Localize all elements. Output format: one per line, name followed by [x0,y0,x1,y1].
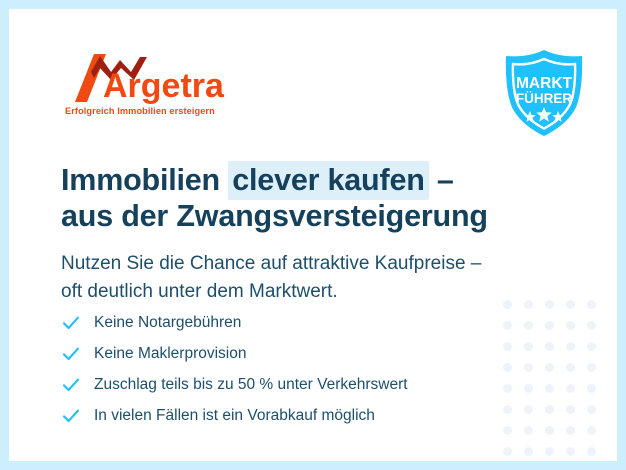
decorative-dot [524,300,533,309]
decorative-dot [566,384,575,393]
marktfuehrer-badge: MARKT FÜHRER [498,47,590,139]
decorative-dot [587,384,596,393]
decorative-dot [503,342,512,351]
logo-tagline: Erfolgreich Immobilien ersteigern [65,106,215,116]
subheadline-line-1: Nutzen Sie die Chance auf attraktive Kau… [61,250,481,278]
decorative-dot [545,342,554,351]
banner-canvas: Argetra Erfolgreich Immobilien ersteiger… [9,9,617,461]
decorative-dot [503,426,512,435]
decorative-dot [545,447,554,456]
decorative-dot [566,300,575,309]
headline-highlight: clever kaufen [228,161,428,200]
decorative-dot [524,321,533,330]
list-item-label: In vielen Fällen ist ein Vorabkauf mögli… [94,406,375,426]
decorative-dot [524,447,533,456]
headline-line-1: Immobilien clever kaufen – [61,162,488,198]
promo-banner: Argetra Erfolgreich Immobilien ersteiger… [0,0,626,470]
decorative-dot [566,342,575,351]
check-icon [61,344,81,364]
decorative-dot [566,426,575,435]
decorative-dot [503,447,512,456]
badge-line2: FÜHRER [516,91,572,106]
decorative-dot [566,405,575,414]
list-item: Zuschlag teils bis zu 50 % unter Verkehr… [61,369,408,400]
check-icon [61,313,81,333]
list-item: Keine Maklerprovision [61,338,408,369]
decorative-dot [524,426,533,435]
list-item-label: Keine Notargebühren [94,313,241,333]
list-item: In vielen Fällen ist ein Vorabkauf mögli… [61,400,408,431]
decorative-dot [587,426,596,435]
list-item-label: Keine Maklerprovision [94,344,247,364]
decorative-dot [545,321,554,330]
check-icon [61,375,81,395]
decorative-dot [587,342,596,351]
decorative-dot [524,384,533,393]
check-icon [61,406,81,426]
decorative-dot [566,363,575,372]
decorative-dot [524,342,533,351]
shield-icon: MARKT FÜHRER [498,47,590,139]
decorative-dot [503,405,512,414]
decorative-dot [545,384,554,393]
decorative-dot [587,300,596,309]
decorative-dot [587,321,596,330]
decorative-dot [524,363,533,372]
decorative-dot [587,363,596,372]
decorative-dot [545,363,554,372]
decorative-dot [503,384,512,393]
decorative-dot [566,321,575,330]
argetra-logo-svg: Argetra Erfolgreich Immobilien ersteiger… [61,50,261,122]
headline-line-2: aus der Zwangsversteigerung [61,198,488,234]
headline-pre: Immobilien [61,163,228,197]
decorative-dot [503,363,512,372]
headline-post: – [429,163,454,197]
list-item-label: Zuschlag teils bis zu 50 % unter Verkehr… [94,375,408,395]
decorative-dot [503,300,512,309]
page-subheadline: Nutzen Sie die Chance auf attraktive Kau… [61,250,481,306]
decorative-dot [503,321,512,330]
decorative-dot [587,447,596,456]
decorative-dot [524,405,533,414]
decorative-dot [545,405,554,414]
decorative-dot [545,300,554,309]
badge-line1: MARKT [516,75,572,92]
logo-wordmark: Argetra [103,67,225,105]
list-item: Keine Notargebühren [61,307,408,338]
decorative-dot-grid [503,300,608,461]
benefits-list: Keine Notargebühren Keine Maklerprovisio… [61,307,408,431]
decorative-dot [545,426,554,435]
subheadline-line-2: oft deutlich unter dem Marktwert. [61,278,481,306]
argetra-logo[interactable]: Argetra Erfolgreich Immobilien ersteiger… [61,50,261,122]
decorative-dot [566,447,575,456]
page-headline: Immobilien clever kaufen – aus der Zwang… [61,162,488,234]
decorative-dot [587,405,596,414]
